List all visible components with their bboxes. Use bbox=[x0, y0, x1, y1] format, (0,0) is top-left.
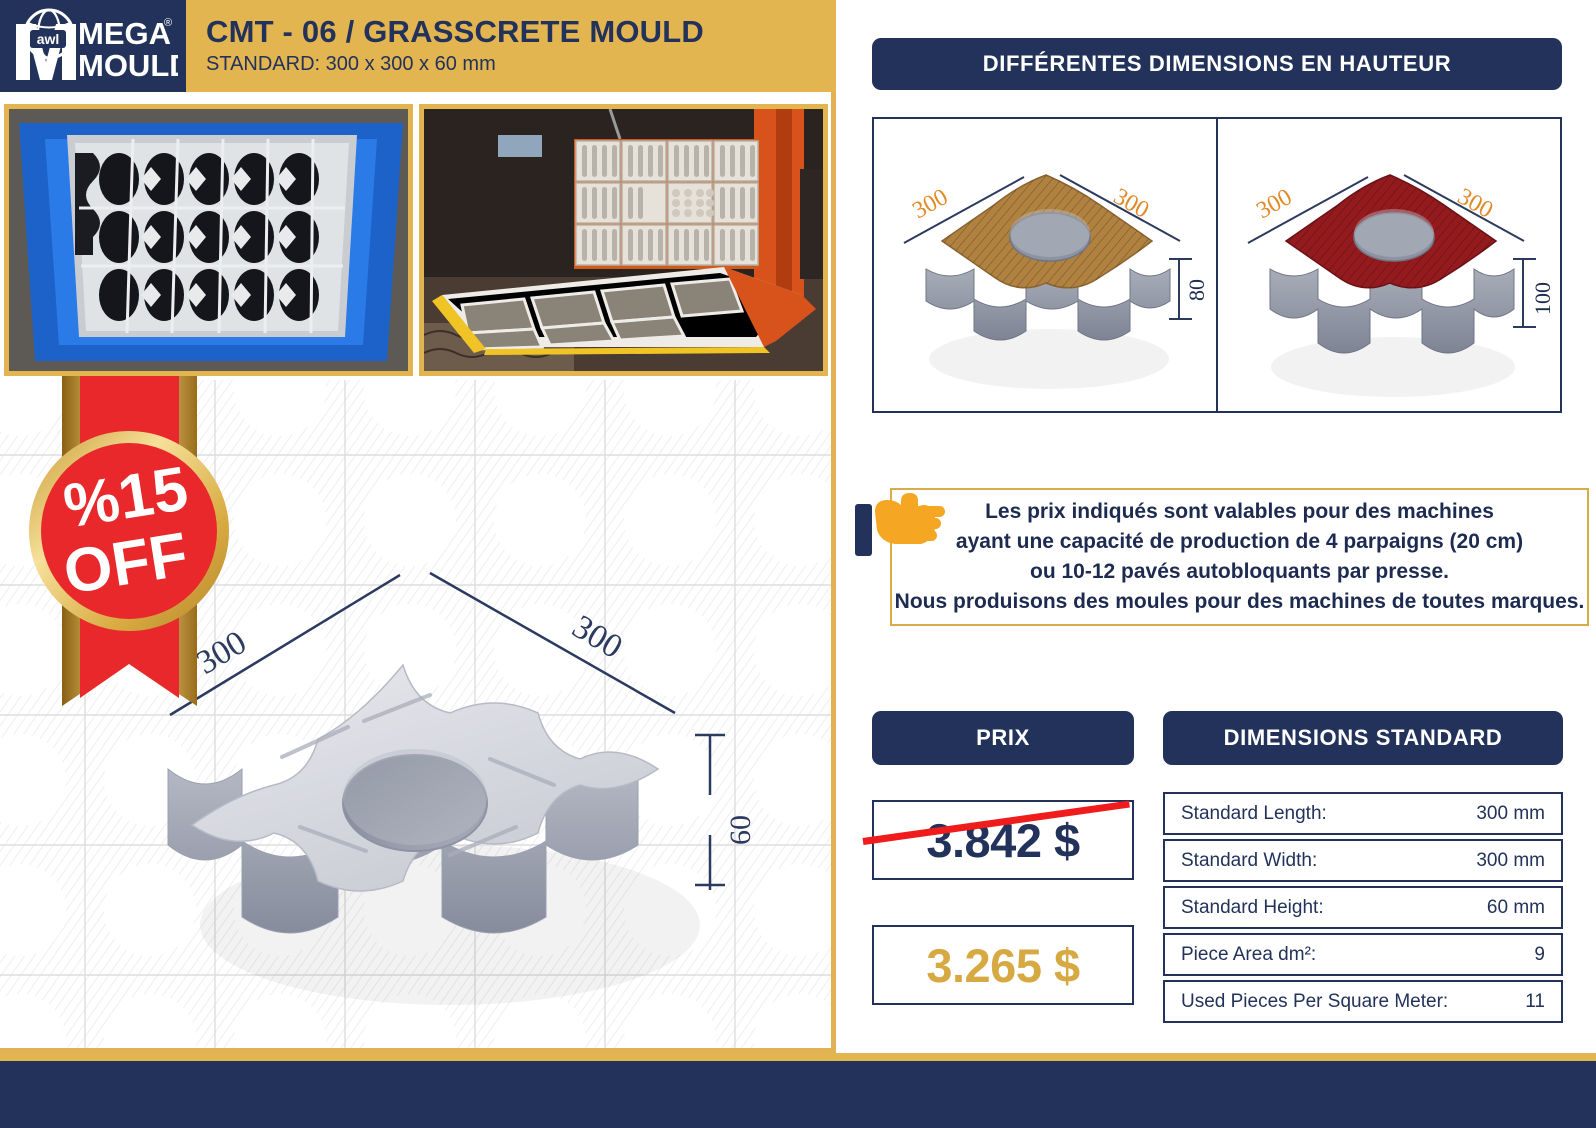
brand-logo[interactable]: awl MEGA MOULD ® bbox=[0, 0, 186, 92]
dimensions-variants-box: 300 300 80 bbox=[872, 117, 1562, 413]
page-title: CMT - 06 / GRASSCRETE MOULD bbox=[206, 16, 704, 49]
dim-row-value: 9 bbox=[1534, 944, 1545, 966]
pointing-hand-icon bbox=[869, 486, 947, 558]
variant100-dim-left: 300 bbox=[1252, 184, 1296, 224]
product-photos bbox=[4, 104, 828, 376]
dim-row-value: 60 mm bbox=[1487, 897, 1545, 919]
dim-row-label: Piece Area dm²: bbox=[1181, 944, 1316, 966]
table-row: Standard Height: 60 mm bbox=[1163, 886, 1563, 929]
dim-row-value: 11 bbox=[1525, 991, 1545, 1013]
note-line-2: ayant une capacité de production de 4 pa… bbox=[956, 527, 1523, 557]
page-subtitle: STANDARD: 300 x 300 x 60 mm bbox=[206, 53, 704, 76]
header-text-block: CMT - 06 / GRASSCRETE MOULD STANDARD: 30… bbox=[186, 0, 704, 92]
left-panel: awl MEGA MOULD ® CMT - 06 / GRASSCRETE M… bbox=[0, 0, 836, 1053]
dim-row-label: Standard Length: bbox=[1181, 803, 1327, 825]
standard-dimensions-title: DIMENSIONS STANDARD bbox=[1163, 711, 1563, 765]
table-row: Standard Width: 300 mm bbox=[1163, 839, 1563, 882]
photo-mould-machine[interactable] bbox=[419, 104, 828, 376]
variant80-dim-left: 300 bbox=[908, 184, 952, 224]
main-dim-height-label: 60 bbox=[724, 815, 757, 845]
dim-row-label: Standard Width: bbox=[1181, 850, 1317, 872]
logo-line1: MEGA bbox=[78, 16, 171, 51]
logo-mark-text: awl bbox=[37, 31, 60, 47]
new-price-box: 3.265 $ bbox=[872, 925, 1134, 1005]
note-box: Les prix indiqués sont valables pour des… bbox=[890, 488, 1589, 626]
header-bar: awl MEGA MOULD ® CMT - 06 / GRASSCRETE M… bbox=[0, 0, 836, 92]
dimensions-section-title: DIFFÉRENTES DIMENSIONS EN HAUTEUR bbox=[872, 38, 1562, 90]
photo-mould-top-view[interactable] bbox=[4, 104, 413, 376]
dim-row-label: Standard Height: bbox=[1181, 897, 1324, 919]
standard-dimensions-table: Standard Length: 300 mm Standard Width: … bbox=[1163, 792, 1563, 1023]
main-product-render: 300 300 60 bbox=[150, 545, 830, 1045]
variant80-dim-height: 80 bbox=[1184, 279, 1209, 301]
table-row: Piece Area dm²: 9 bbox=[1163, 933, 1563, 976]
table-row: Used Pieces Per Square Meter: 11 bbox=[1163, 980, 1563, 1023]
variant100-dim-height: 100 bbox=[1530, 282, 1555, 315]
dim-row-value: 300 mm bbox=[1476, 850, 1545, 872]
logo-line2: MOULD bbox=[78, 48, 178, 83]
footer-gold-strip bbox=[0, 1053, 1596, 1061]
dim-row-value: 300 mm bbox=[1476, 803, 1545, 825]
footer-bar bbox=[0, 1061, 1596, 1128]
logo-registered-icon: ® bbox=[164, 17, 172, 29]
variant-80mm: 300 300 80 bbox=[874, 119, 1216, 411]
note-line-3: ou 10-12 pavés autobloquants par presse. bbox=[1030, 557, 1449, 587]
note-line-4: Nous produisons des moules pour des mach… bbox=[895, 587, 1585, 617]
discount-badge[interactable]: %15 OFF bbox=[22, 376, 237, 716]
dim-row-label: Used Pieces Per Square Meter: bbox=[1181, 991, 1448, 1013]
price-note-callout: Les prix indiqués sont valables pour des… bbox=[849, 478, 1589, 636]
right-panel: DIFFÉRENTES DIMENSIONS EN HAUTEUR bbox=[841, 0, 1596, 1053]
table-row: Standard Length: 300 mm bbox=[1163, 792, 1563, 835]
note-line-1: Les prix indiqués sont valables pour des… bbox=[985, 497, 1494, 527]
variant-100mm: 300 300 100 bbox=[1216, 119, 1560, 411]
poster-root: awl MEGA MOULD ® CMT - 06 / GRASSCRETE M… bbox=[0, 0, 1596, 1128]
price-section-title: PRIX bbox=[872, 711, 1134, 765]
